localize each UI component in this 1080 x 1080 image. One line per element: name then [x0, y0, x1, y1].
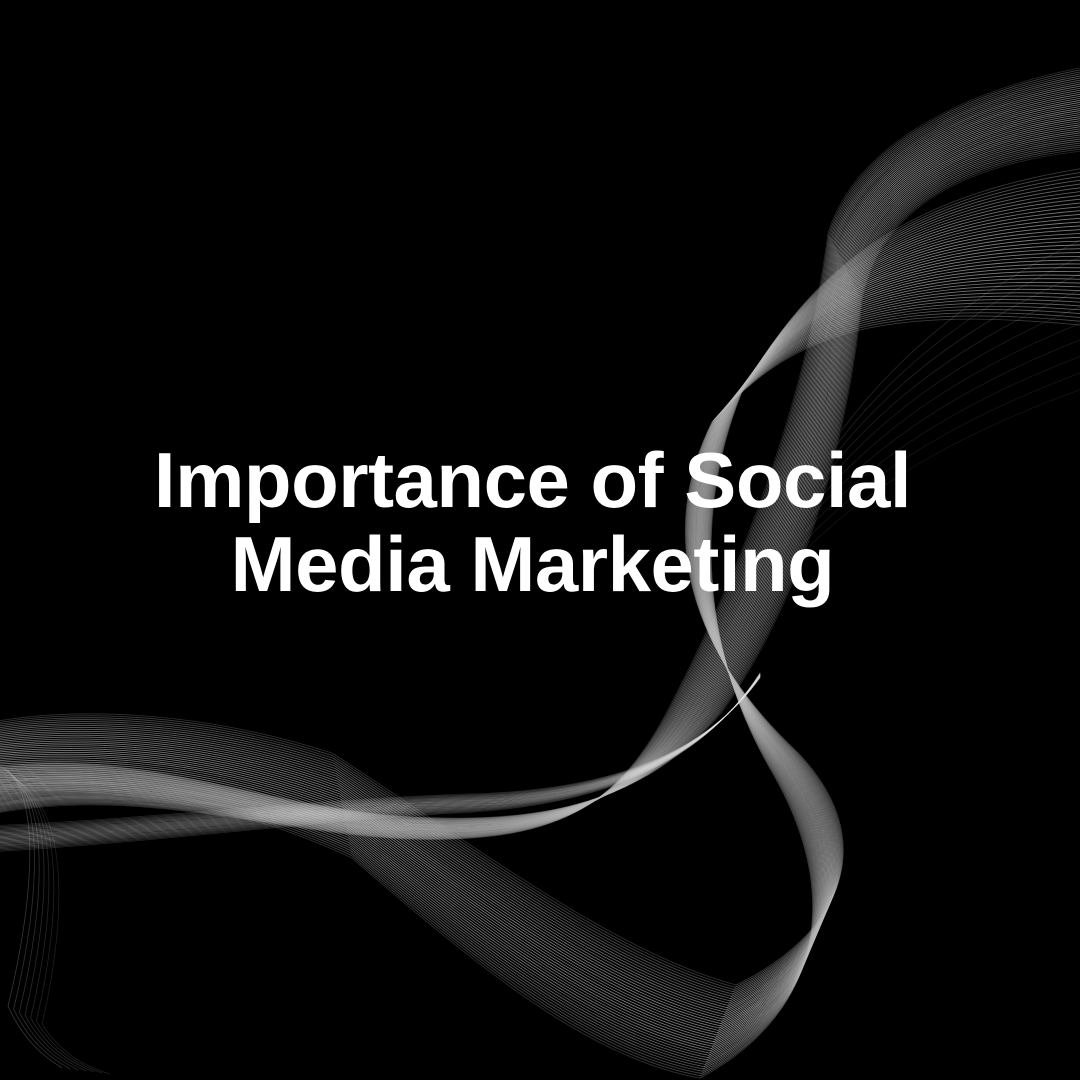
title-line-2: Media Marketing — [0, 522, 1065, 606]
page-title: Importance of Social Media Marketing — [0, 438, 1065, 606]
wave-bundle-strays — [0, 236, 1080, 1074]
poster-canvas: Importance of Social Media Marketing — [0, 0, 1080, 1080]
title-line-1: Importance of Social — [0, 438, 1065, 522]
wave-bundle-upper — [0, 168, 1080, 1078]
